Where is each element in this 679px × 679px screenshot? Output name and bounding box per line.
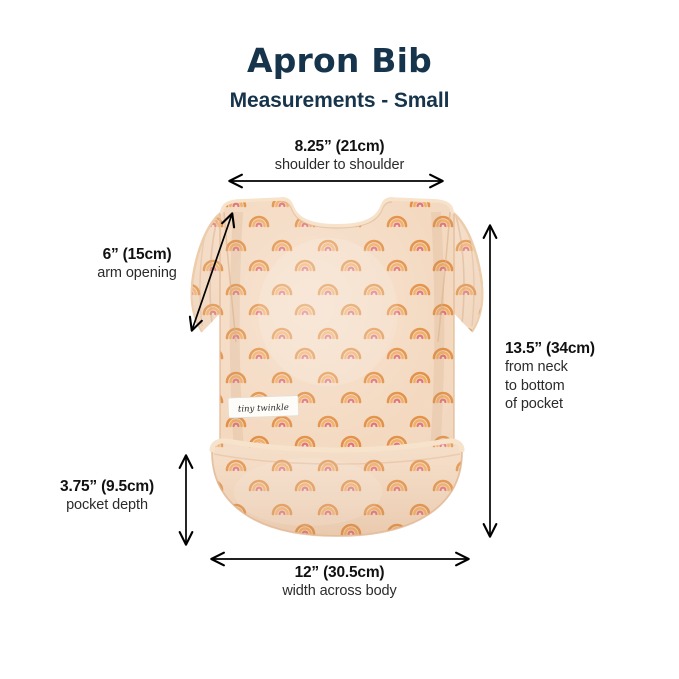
neck-to-pocket-value: 13.5” (34cm): [505, 340, 675, 358]
width-description: width across body: [0, 582, 679, 601]
pocket-depth-value: 3.75” (9.5cm): [22, 478, 192, 496]
pocket-depth-description: pocket depth: [22, 496, 192, 515]
arm-opening-value: 6” (15cm): [52, 246, 222, 264]
measurement-label-arm-opening: 6” (15cm) arm opening: [52, 246, 222, 283]
neck-to-pocket-description-line1: from neck: [505, 358, 675, 377]
width-value: 12” (30.5cm): [0, 564, 679, 582]
product-measurement-diagram: Apron Bib Measurements - Small: [0, 0, 679, 679]
apron-bib-illustration: tiny twinkle: [178, 192, 496, 544]
neck-to-pocket-description-line3: of pocket: [505, 395, 675, 414]
measurement-label-width-across-body: 12” (30.5cm) width across body: [0, 564, 679, 601]
page-title: Apron Bib: [0, 44, 679, 79]
title-block: Apron Bib Measurements - Small: [0, 44, 679, 113]
measurement-label-pocket-depth: 3.75” (9.5cm) pocket depth: [22, 478, 192, 515]
page-subtitle: Measurements - Small: [0, 89, 679, 113]
arm-opening-description: arm opening: [52, 264, 222, 283]
measurement-label-neck-to-pocket: 13.5” (34cm) from neck to bottom of pock…: [505, 340, 675, 414]
measurement-label-shoulder-to-shoulder: 8.25” (21cm) shoulder to shoulder: [0, 138, 679, 175]
shoulder-description: shoulder to shoulder: [0, 156, 679, 175]
brand-label: tiny twinkle: [228, 396, 299, 418]
svg-text:tiny twinkle: tiny twinkle: [238, 403, 289, 415]
neck-to-pocket-description-line2: to bottom: [505, 377, 675, 396]
shoulder-value: 8.25” (21cm): [0, 138, 679, 156]
